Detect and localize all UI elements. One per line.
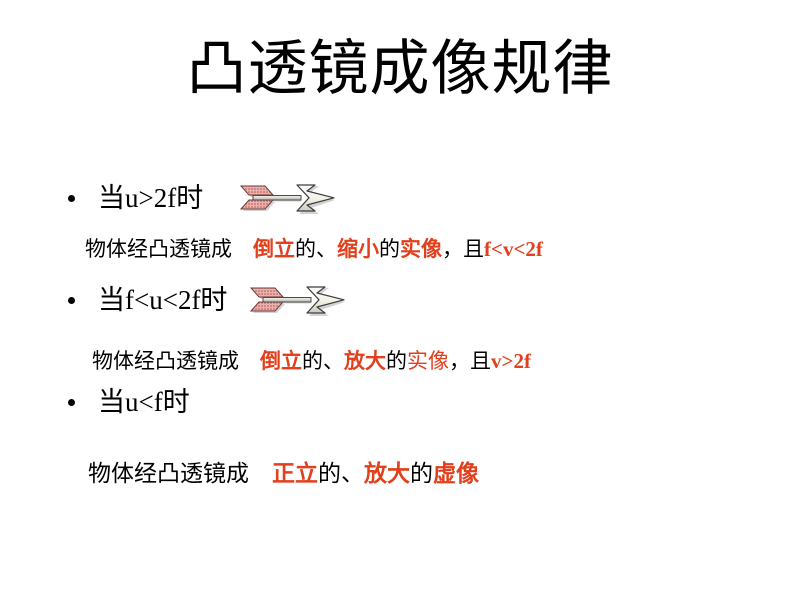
- detail-segment: f<v<2f: [484, 237, 543, 261]
- detail-segment: 倒立: [260, 349, 302, 373]
- page-title: 凸透镜成像规律: [0, 36, 800, 102]
- detail-segment: 物体经凸透镜成: [85, 237, 232, 261]
- bullet-item-1[interactable]: 当u>2f时: [68, 182, 339, 214]
- detail-segment: 的、: [318, 461, 364, 486]
- detail-segment: 放大: [344, 349, 386, 373]
- detail-segment: 缩小: [337, 237, 379, 261]
- detail-segment: 实像: [400, 237, 442, 261]
- detail-segment: 虚像: [433, 461, 479, 486]
- detail-segment: [239, 349, 260, 373]
- detail-line-3: 物体经凸透镜成 正立的、放大的虚像: [88, 460, 479, 488]
- detail-segment: 实像: [407, 349, 449, 373]
- bullet-label-3: 当u<f时: [98, 386, 190, 418]
- detail-segment: 倒立: [253, 237, 295, 261]
- detail-segment: v>2f: [491, 349, 531, 373]
- detail-segment: 的、: [302, 349, 344, 373]
- red-fletched-arrow-icon: [247, 284, 351, 316]
- detail-segment: ，且: [442, 237, 484, 261]
- detail-segment: 的: [410, 461, 433, 486]
- detail-segment: 的: [379, 237, 400, 261]
- detail-segment: 物体经凸透镜成: [92, 349, 239, 373]
- bullet-marker-icon: [68, 297, 75, 304]
- bullet-item-3[interactable]: 当u<f时: [68, 386, 190, 418]
- bullet-item-2[interactable]: 当f<u<2f时: [68, 284, 351, 316]
- detail-line-1: 物体经凸透镜成 倒立的、缩小的实像，且f<v<2f: [85, 236, 543, 262]
- detail-segment: 正立: [272, 461, 318, 486]
- red-fletched-arrow-icon: [239, 182, 339, 214]
- detail-segment: ，且: [449, 349, 491, 373]
- detail-line-2: 物体经凸透镜成 倒立的、放大的实像，且v>2f: [92, 348, 531, 374]
- detail-segment: [249, 461, 272, 486]
- bullet-label-1: 当u>2f时: [98, 182, 203, 214]
- detail-segment: 的: [386, 349, 407, 373]
- bullet-marker-icon: [68, 399, 75, 406]
- detail-segment: [232, 237, 253, 261]
- detail-segment: 物体经凸透镜成: [88, 461, 249, 486]
- detail-segment: 的、: [295, 237, 337, 261]
- bullet-marker-icon: [68, 195, 75, 202]
- detail-segment: 放大: [364, 461, 410, 486]
- bullet-label-2: 当f<u<2f时: [98, 284, 227, 316]
- slide-canvas: 凸透镜成像规律 当u>2f时: [0, 0, 800, 600]
